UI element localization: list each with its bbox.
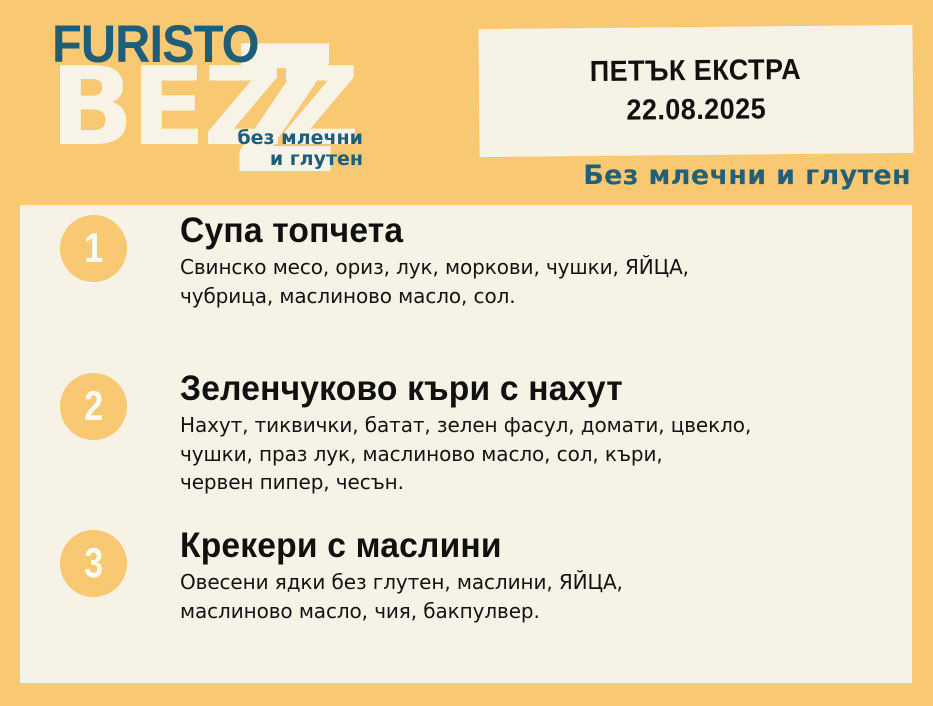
menu-item-name: Зеленчуково къри с нахут (180, 369, 852, 409)
brand-logo: Z FURISTO BEZZ без млечни и глутен (50, 18, 380, 188)
menu-item-number-badge: 1 (60, 215, 127, 282)
logo-tagline-line-2: и глутен (178, 149, 363, 170)
menu-item-name: Крекери с маслини (180, 526, 852, 566)
date-card: ПЕТЪК ЕКСТРА 22.08.2025 (478, 25, 913, 157)
date-card-title: ПЕТЪК ЕКСТРА (590, 54, 802, 89)
menu-item-ingredients: Нахут, тиквички, батат, зелен фасул, дом… (180, 411, 880, 496)
menu-card: 1 Супа топчета Свинско месо, ориз, лук, … (20, 205, 912, 683)
poster-header: Z FURISTO BEZZ без млечни и глутен ПЕТЪК… (0, 0, 933, 205)
menu-item-number-badge: 3 (60, 530, 127, 597)
logo-tagline: без млечни и глутен (178, 128, 363, 169)
menu-item-content: Крекери с маслини Овесени ядки без глуте… (180, 526, 880, 625)
menu-item-ingredients: Овесени ядки без глутен, маслини, ЯЙЦА, … (180, 568, 880, 625)
menu-item-content: Супа топчета Свинско месо, ориз, лук, мо… (180, 211, 880, 310)
header-subtitle: Без млечни и глутен (583, 160, 911, 191)
menu-item-content: Зеленчуково къри с нахут Нахут, тиквички… (180, 369, 880, 496)
logo-tagline-line-1: без млечни (178, 128, 363, 149)
poster-root: Z FURISTO BEZZ без млечни и глутен ПЕТЪК… (0, 0, 933, 706)
menu-item-number-badge: 2 (60, 373, 127, 440)
menu-item-number: 2 (84, 385, 103, 427)
menu-item-number: 3 (84, 542, 103, 584)
menu-item-number: 1 (84, 227, 103, 269)
date-card-date: 22.08.2025 (626, 93, 766, 127)
menu-item-name: Супа топчета (180, 211, 852, 251)
menu-item-ingredients: Свинско месо, ориз, лук, моркови, чушки,… (180, 253, 880, 310)
menu-item-list: 1 Супа топчета Свинско месо, ориз, лук, … (20, 205, 912, 683)
